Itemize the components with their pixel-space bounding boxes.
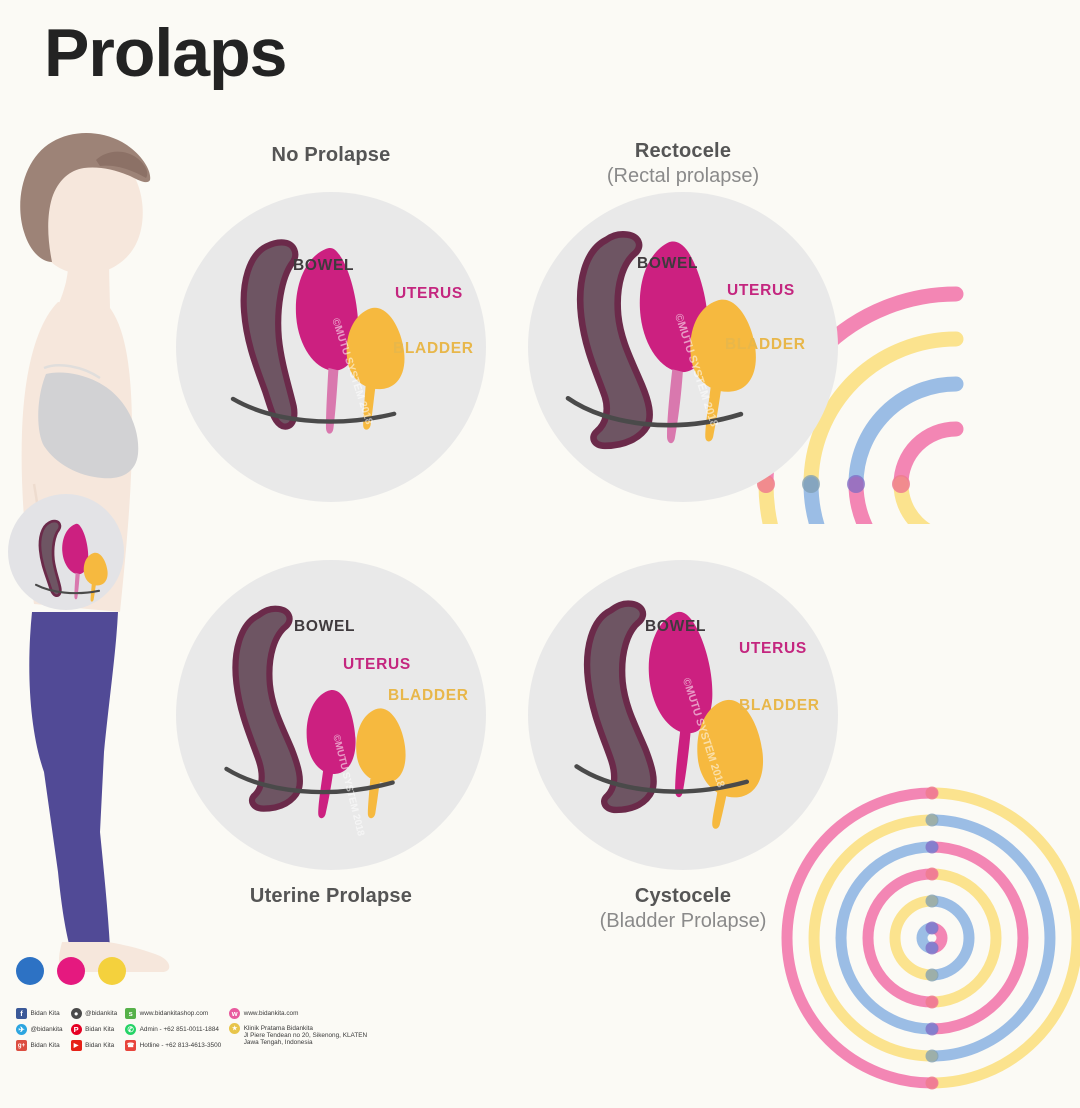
footer-text: @bidankita [85, 1008, 117, 1017]
cervix-shape [326, 368, 338, 434]
label-bowel-uterine: BOWEL [294, 618, 355, 636]
footer-row-koala[interactable]: ● @bidankita [71, 1008, 118, 1019]
footer-text: Bidan Kita [85, 1040, 114, 1049]
circle-left-yellow-5 [895, 901, 932, 975]
googleplus-icon: g+ [16, 1040, 27, 1051]
leggings [29, 612, 118, 948]
circle-left-pink-4 [868, 874, 932, 1002]
footer-text: @bidankita [31, 1024, 63, 1033]
pinterest-icon: P [71, 1024, 82, 1035]
page-title: Prolaps [44, 18, 286, 89]
bladder-shape [356, 708, 405, 782]
circle-left-blue-6 [922, 928, 932, 948]
arc-blue-1 [856, 384, 956, 484]
dot-blue [16, 957, 44, 985]
footer-column-2: ● @bidankita P Bidan Kita ▶ Bidan Kita [71, 1008, 118, 1051]
bowel-shape [244, 242, 296, 426]
panel-uterine-prolapse: ©MUTU SYSTEM 2018 BOWEL UTERUS BLADDER U… [176, 560, 486, 920]
clinic-name: Klinik Pratama Bidankita [244, 1025, 367, 1032]
shop-icon: s [125, 1008, 136, 1019]
footer-row-hotline[interactable]: ☎ Hotline - +62 813-4613-3500 [125, 1040, 221, 1051]
clinic-province: Jawa Tengah, Indonesia [244, 1039, 367, 1046]
clinic-street: Jl Piere Tendean no 20, Sikenong, KLATEN [244, 1032, 367, 1039]
dot-yellow [98, 957, 126, 985]
web-icon: w [229, 1008, 240, 1019]
footer-text: Hotline - +62 813-4613-3500 [140, 1040, 222, 1049]
facebook-icon: f [16, 1008, 27, 1019]
footer-text: www.bidankitashop.com [140, 1008, 209, 1017]
clinic-icon: ★ [229, 1023, 240, 1034]
footer-address: Klinik Pratama Bidankita Jl Piere Tendea… [244, 1023, 367, 1047]
cervix-shape [675, 731, 690, 798]
footer-text: Bidan Kita [31, 1040, 60, 1049]
koala-icon: ● [71, 1008, 82, 1019]
footer-row-telegram[interactable]: ✈ @bidankita [16, 1024, 63, 1035]
arc-pink-3 [856, 484, 956, 524]
footer-column-1: f Bidan Kita ✈ @bidankita g+ Bidan Kita [16, 1008, 63, 1051]
footer-row-website[interactable]: w www.bidankita.com [229, 1008, 367, 1019]
urethra-shape [712, 789, 727, 828]
circle-right-yellow-4 [932, 874, 996, 1002]
footer-column-4: w www.bidankita.com ★ Klinik Pratama Bid… [229, 1008, 367, 1051]
organ-diagram-uterine-prolapse: ©MUTU SYSTEM 2018 [176, 560, 486, 870]
label-bladder-rectocele: BLADDER [725, 336, 806, 354]
label-uterus-uterine: UTERUS [343, 656, 411, 674]
arc-yellow-3 [901, 484, 956, 524]
circle-right-pink-3 [932, 847, 1023, 1029]
circle-right-blue-5 [932, 901, 969, 975]
woman-side-profile-illustration [0, 112, 190, 972]
footer-row-pinterest[interactable]: P Bidan Kita [71, 1024, 118, 1035]
cervix-shape [667, 369, 683, 443]
circle-junction-dots [926, 787, 939, 1090]
label-uterus-cystocele: UTERUS [739, 640, 807, 658]
dot-pink [57, 957, 85, 985]
footer-text: www.bidankita.com [244, 1008, 299, 1017]
label-bowel-rectocele: BOWEL [637, 255, 698, 273]
panel-rectocele: Rectocele (Rectal prolapse) ©MUTU SYSTEM… [528, 130, 838, 460]
circle-right-yellow-1 [932, 793, 1077, 1083]
label-uterus-no-prolapse: UTERUS [395, 285, 463, 303]
footer-row-facebook[interactable]: f Bidan Kita [16, 1008, 63, 1019]
label-bowel-no-prolapse: BOWEL [293, 257, 354, 275]
panel-cystocele: ©MUTU SYSTEM 2018 BOWEL UTERUS BLADDER C… [528, 560, 838, 940]
organ-diagram-cystocele: ©MUTU SYSTEM 2018 [528, 560, 838, 870]
whatsapp-icon: ✆ [125, 1024, 136, 1035]
brand-color-dots [16, 957, 126, 985]
label-bladder-cystocele: BLADDER [739, 697, 820, 715]
footer-row-googleplus[interactable]: g+ Bidan Kita [16, 1040, 63, 1051]
footer-text: Bidan Kita [31, 1008, 60, 1017]
footer-contact-block: f Bidan Kita ✈ @bidankita g+ Bidan Kita … [16, 1008, 367, 1051]
youtube-icon: ▶ [71, 1040, 82, 1051]
panel-title-cystocele: Cystocele [528, 885, 838, 908]
panel-no-prolapse: No Prolapse ©MUTU SYSTEM 2018 BOWEL UTER… [176, 130, 486, 460]
footer-row-youtube[interactable]: ▶ Bidan Kita [71, 1040, 118, 1051]
circle-right-pink-6 [932, 928, 942, 948]
footer-text: Bidan Kita [85, 1024, 114, 1033]
circle-right-blue-2 [932, 820, 1050, 1056]
arc-pink-2 [901, 429, 956, 484]
phone-icon: ☎ [125, 1040, 136, 1051]
footer-column-3: s www.bidankitashop.com ✆ Admin - +62 85… [125, 1008, 221, 1051]
label-uterus-rectocele: UTERUS [727, 282, 795, 300]
footer-row-clinic-address: ★ Klinik Pratama Bidankita Jl Piere Tend… [229, 1023, 367, 1047]
panel-title-rectocele: Rectocele [528, 140, 838, 163]
infographic-canvas: Prolaps [0, 0, 1080, 1080]
panel-title-no-prolapse: No Prolapse [176, 144, 486, 167]
footer-text: Admin - +62 851-0011-1884 [140, 1024, 219, 1033]
label-bladder-no-prolapse: BLADDER [393, 340, 474, 358]
panel-subtitle-rectocele: (Rectal prolapse) [528, 165, 838, 188]
circle-left-blue-3 [841, 847, 932, 1029]
footer-row-whatsapp-admin[interactable]: ✆ Admin - +62 851-0011-1884 [125, 1024, 221, 1035]
label-bowel-cystocele: BOWEL [645, 618, 706, 636]
label-bladder-uterine: BLADDER [388, 687, 469, 705]
panel-subtitle-cystocele: (Bladder Prolapse) [528, 910, 838, 933]
panel-title-uterine-prolapse: Uterine Prolapse [176, 885, 486, 908]
telegram-icon: ✈ [16, 1024, 27, 1035]
footer-row-shop[interactable]: s www.bidankitashop.com [125, 1008, 221, 1019]
